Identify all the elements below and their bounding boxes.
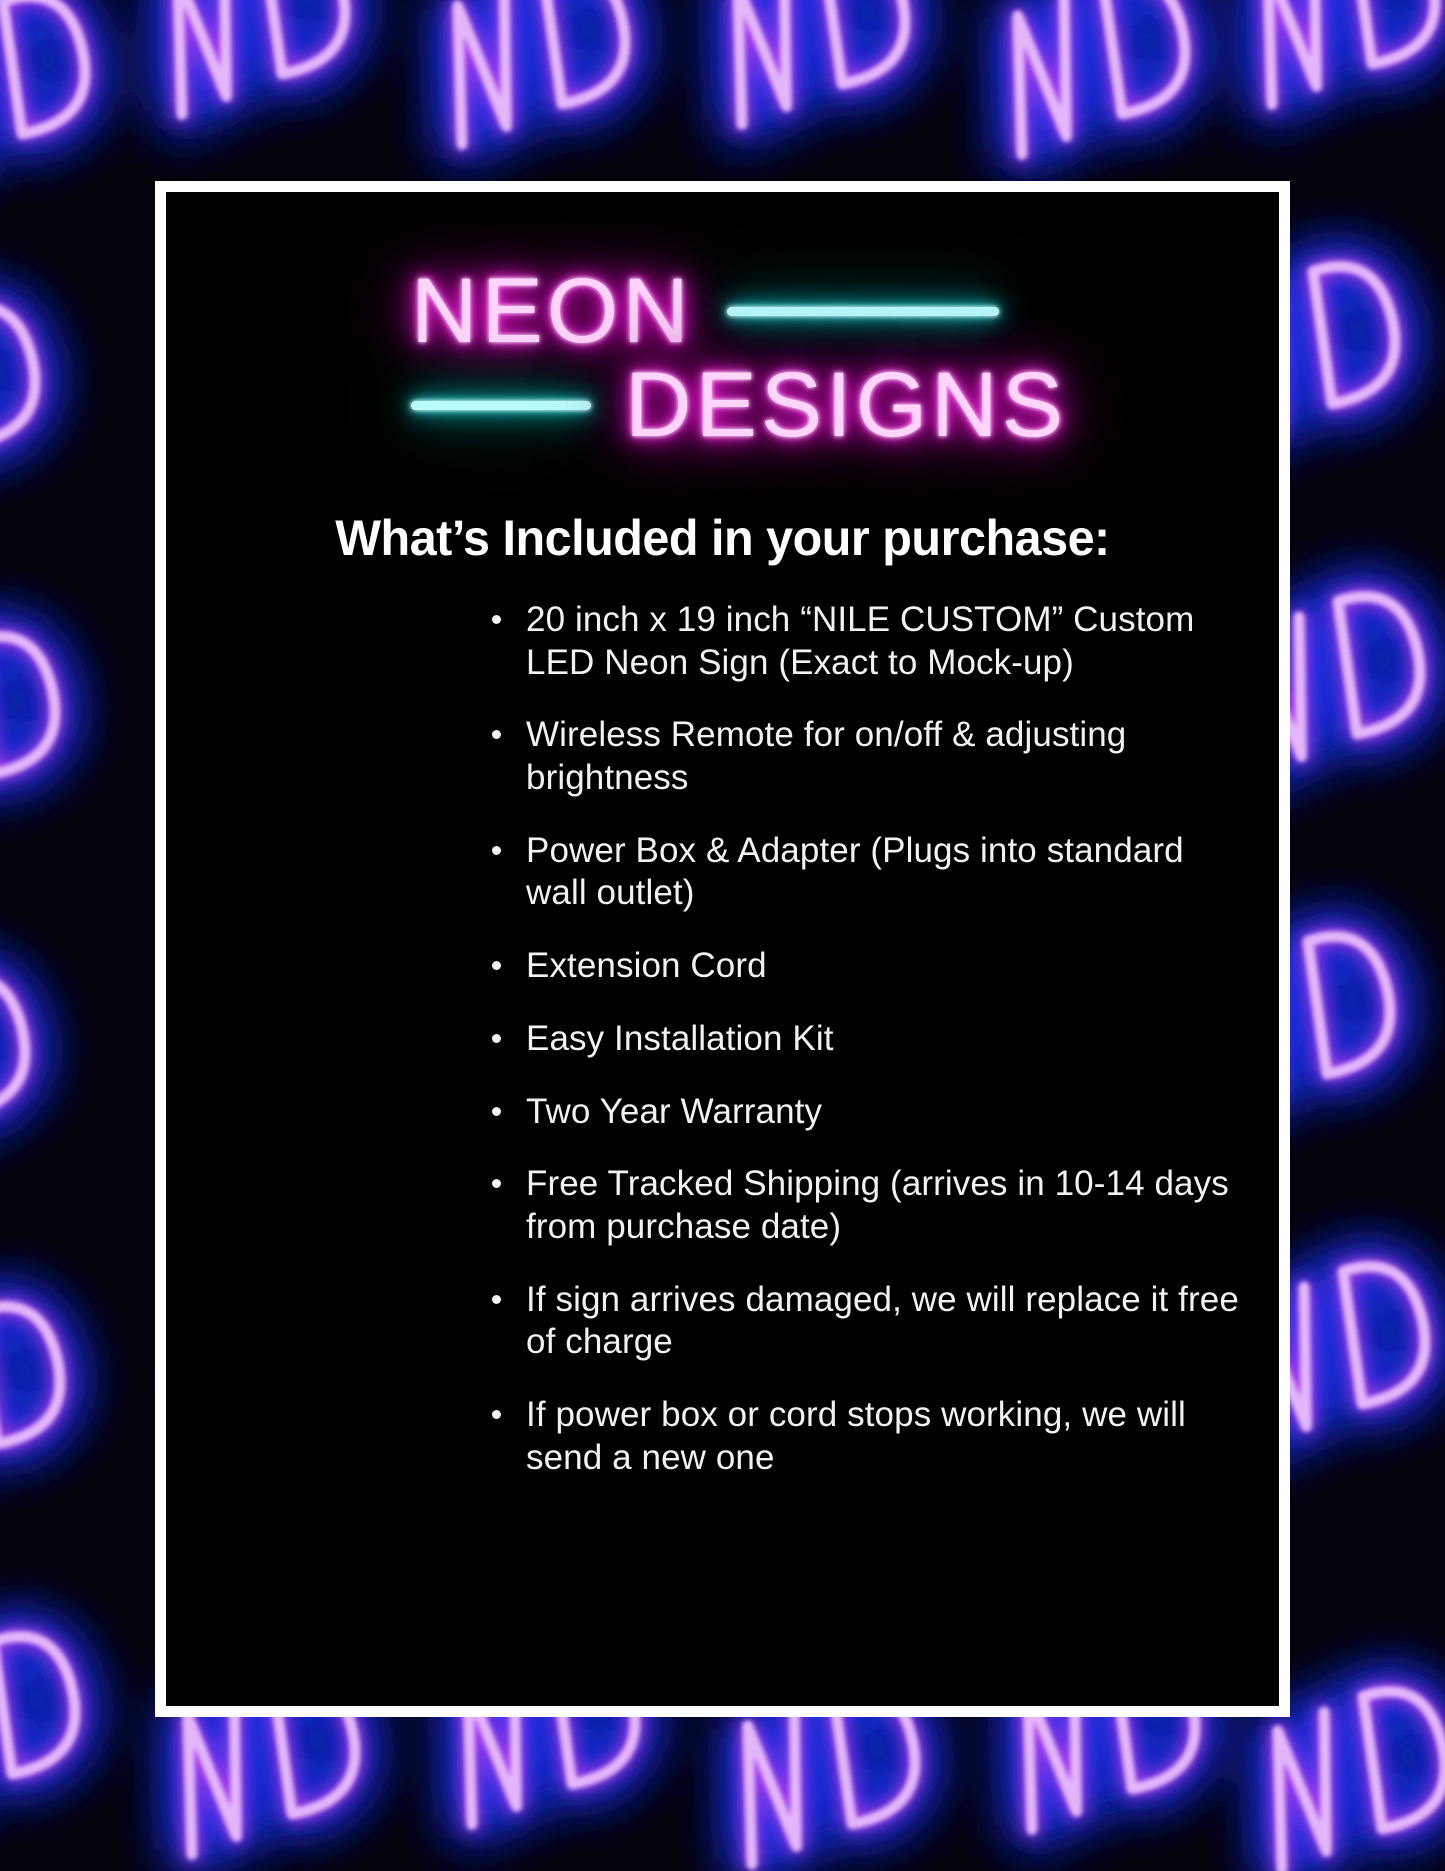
list-item-label: If power box or cord stops working, we w…	[526, 1395, 1186, 1477]
page-title: What’s Included in your purchase:	[183, 509, 1263, 567]
bullet-dot-icon	[492, 1410, 501, 1419]
list-item: If sign arrives damaged, we will replace…	[526, 1279, 1239, 1364]
list-item: Two Year Warranty	[526, 1091, 1239, 1134]
logo-word-neon: NEON	[411, 265, 693, 357]
list-item: 20 inch x 19 inch “NILE CUSTOM” Custom L…	[526, 599, 1239, 684]
list-item: Extension Cord	[526, 945, 1239, 988]
bullet-dot-icon	[492, 615, 501, 624]
white-frame: NEON DESIGNS What’s Included in your pur…	[155, 181, 1290, 1717]
logo-row-bottom: DESIGNS	[411, 359, 1067, 451]
list-item-label: If sign arrives damaged, we will replace…	[526, 1280, 1239, 1362]
cyan-bar-top-icon	[727, 307, 999, 316]
list-item: Wireless Remote for on/off & adjusting b…	[526, 714, 1239, 799]
included-items-list: 20 inch x 19 inch “NILE CUSTOM” Custom L…	[166, 599, 1279, 1479]
list-item-label: Wireless Remote for on/off & adjusting b…	[526, 715, 1126, 797]
list-item-label: Free Tracked Shipping (arrives in 10-14 …	[526, 1164, 1229, 1246]
list-item: If power box or cord stops working, we w…	[526, 1394, 1239, 1479]
cyan-bar-bottom-icon	[411, 401, 591, 410]
list-item-label: 20 inch x 19 inch “NILE CUSTOM” Custom L…	[526, 600, 1194, 682]
bullet-dot-icon	[492, 961, 501, 970]
list-item: Free Tracked Shipping (arrives in 10-14 …	[526, 1163, 1239, 1248]
list-item-label: Power Box & Adapter (Plugs into standard…	[526, 831, 1184, 913]
list-item: Power Box & Adapter (Plugs into standard…	[526, 830, 1239, 915]
logo-row-top: NEON	[411, 265, 999, 357]
list-item-label: Easy Installation Kit	[526, 1019, 834, 1058]
bullet-dot-icon	[492, 1179, 501, 1188]
bullet-dot-icon	[492, 1295, 501, 1304]
neon-designs-logo: NEON DESIGNS	[166, 247, 1279, 497]
bullet-dot-icon	[492, 730, 501, 739]
list-item-label: Extension Cord	[526, 946, 767, 985]
list-item: Easy Installation Kit	[526, 1018, 1239, 1061]
list-item-label: Two Year Warranty	[526, 1092, 822, 1131]
bullet-dot-icon	[492, 846, 501, 855]
content-card: NEON DESIGNS What’s Included in your pur…	[166, 192, 1279, 1706]
bullet-dot-icon	[492, 1107, 501, 1116]
logo-word-designs: DESIGNS	[625, 359, 1067, 451]
bullet-dot-icon	[492, 1034, 501, 1043]
